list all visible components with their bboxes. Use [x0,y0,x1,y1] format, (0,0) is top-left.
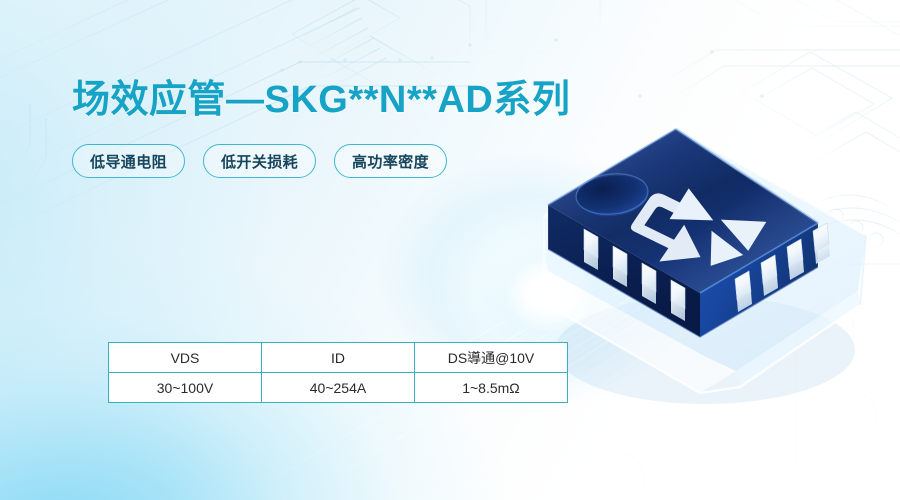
tag-low-on-resistance[interactable]: 低导通电阻 [72,144,185,178]
table-header-vds: VDS [109,343,262,373]
page-title: 场效应管—SKG**N**AD系列 [72,68,570,123]
table-cell-rds-on-value: 1~8.5mΩ [415,373,568,403]
table-header-rds-on: DS導通@10V [415,343,568,373]
table-cell-id-value: 40~254A [262,373,415,403]
specification-table: VDS ID DS導通@10V 30~100V 40~254A 1~8.5mΩ [108,342,568,403]
product-banner: 场效应管—SKG**N**AD系列 低导通电阻 低开关损耗 高功率密度 VDS … [0,0,900,500]
table-row: 30~100V 40~254A 1~8.5mΩ [109,373,568,403]
tag-low-switching-loss[interactable]: 低开关损耗 [203,144,316,178]
tag-high-power-density[interactable]: 高功率密度 [334,144,447,178]
table-header-id: ID [262,343,415,373]
table-header-row: VDS ID DS導通@10V [109,343,568,373]
feature-tag-row: 低导通电阻 低开关损耗 高功率密度 [72,144,447,178]
table-cell-vds-value: 30~100V [109,373,262,403]
banner-content: 场效应管—SKG**N**AD系列 低导通电阻 低开关损耗 高功率密度 VDS … [0,0,900,500]
